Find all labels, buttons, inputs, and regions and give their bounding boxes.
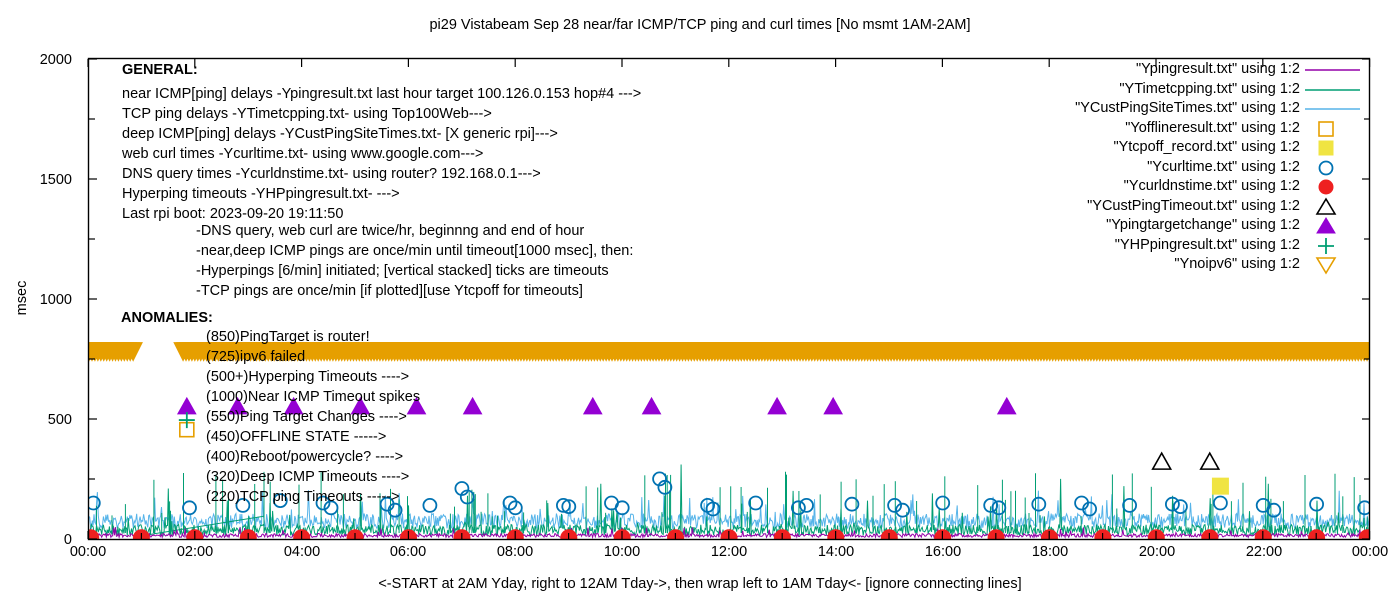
legend-label: "Ytcpoff_record.txt" using 1:2 — [1010, 138, 1300, 158]
x-tick-0200: 02:00 — [155, 545, 235, 559]
y-tick-1500: 1500 — [12, 173, 72, 187]
legend-key-circle-open-icon — [1300, 158, 1380, 178]
timing-note-line: -Hyperpings [6/min] initiated; [vertical… — [196, 261, 633, 281]
gnuplot-chart: pi29 Vistabeam Sep 28 near/far ICMP/TCP … — [0, 0, 1400, 600]
legend-key-triangle-open-icon — [1300, 197, 1380, 217]
timing-note-line: -near,deep ICMP pings are once/min until… — [196, 241, 633, 261]
legend-label: "Ycurldnstime.txt" using 1:2 — [1010, 177, 1300, 197]
legend-key-plus-icon — [1300, 236, 1380, 256]
anomaly-note-line: (320)Deep ICMP Timeouts ----> — [206, 467, 420, 487]
legend-key-line-icon — [1300, 80, 1380, 100]
anomaly-note-line: (500+)Hyperping Timeouts ----> — [206, 367, 420, 387]
x-tick-1200: 12:00 — [689, 545, 769, 559]
chart-title: pi29 Vistabeam Sep 28 near/far ICMP/TCP … — [0, 17, 1400, 33]
x-tick-0000b: 00:00 — [1330, 545, 1400, 559]
legend-key-triangle-filled-icon — [1300, 216, 1380, 236]
anomaly-note-line: (550)Ping Target Changes ----> — [206, 407, 420, 427]
legend-key-square-filled-icon — [1300, 138, 1380, 158]
series-misc-anomaly-markers — [179, 412, 195, 437]
x-tick-0800: 08:00 — [475, 545, 555, 559]
timing-notes: -DNS query, web curl are twice/hr, begin… — [196, 221, 633, 301]
legend-key-nabla-open-icon — [1300, 255, 1380, 275]
y-tick-1000: 1000 — [12, 293, 72, 307]
series-Ytcpoff_record — [1212, 478, 1228, 494]
legend: "Ypingresult.txt" using 1:2 "YTimetcppin… — [1010, 60, 1300, 275]
legend-key-circle-filled-icon — [1300, 177, 1380, 197]
x-tick-0400: 04:00 — [262, 545, 342, 559]
x-axis-label: <-START at 2AM Yday, right to 12AM Tday-… — [0, 576, 1400, 592]
x-tick-2000: 20:00 — [1117, 545, 1197, 559]
general-heading: GENERAL: — [122, 60, 198, 80]
x-tick-1800: 18:00 — [1010, 545, 1090, 559]
general-note-line: deep ICMP[ping] delays -YCustPingSiteTim… — [122, 124, 641, 144]
x-tick-2200: 22:00 — [1224, 545, 1304, 559]
y-tick-500: 500 — [12, 413, 72, 427]
legend-label: "Ynoipv6" using 1:2 — [1010, 255, 1300, 275]
x-tick-0000a: 00:00 — [48, 545, 128, 559]
legend-keys — [1300, 60, 1380, 275]
anomalies-heading: ANOMALIES: — [121, 308, 213, 328]
anomalies-notes: (850)PingTarget is router! (725)ipv6 fai… — [206, 327, 420, 507]
anomaly-note-line: (220)TCP ping Timeouts -----> — [206, 487, 420, 507]
series-YCustPingTimeout — [1153, 453, 1219, 469]
legend-label: "YHPpingresult.txt" using 1:2 — [1010, 236, 1300, 256]
legend-label: "Ycurltime.txt" using 1:2 — [1010, 158, 1300, 178]
general-note-line: near ICMP[ping] delays -Ypingresult.txt … — [122, 84, 641, 104]
x-tick-1600: 16:00 — [903, 545, 983, 559]
general-notes: near ICMP[ping] delays -Ypingresult.txt … — [122, 84, 641, 224]
legend-key-line-icon — [1300, 60, 1380, 80]
y-tick-2000: 2000 — [12, 53, 72, 67]
x-tick-1400: 14:00 — [796, 545, 876, 559]
timing-note-line: -DNS query, web curl are twice/hr, begin… — [196, 221, 633, 241]
anomaly-note-line: (725)ipv6 failed — [206, 347, 420, 367]
legend-key-line-icon — [1300, 99, 1380, 119]
anomaly-note-line: (400)Reboot/powercycle? ----> — [206, 447, 420, 467]
general-note-line: DNS query times -Ycurldnstime.txt- using… — [122, 164, 641, 184]
legend-label: "YTimetcpping.txt" using 1:2 — [1010, 80, 1300, 100]
legend-label: "YCustPingSiteTimes.txt" using 1:2 — [1010, 99, 1300, 119]
legend-label: "Yofflineresult.txt" using 1:2 — [1010, 119, 1300, 139]
series-Ypingresult — [88, 527, 1370, 537]
anomaly-note-line: (850)PingTarget is router! — [206, 327, 420, 347]
x-tick-0600: 06:00 — [368, 545, 448, 559]
general-note-line: TCP ping delays -YTimetcpping.txt- using… — [122, 104, 641, 124]
timing-note-line: -TCP pings are once/min [if plotted][use… — [196, 281, 633, 301]
x-tick-1000: 10:00 — [582, 545, 662, 559]
anomaly-note-line: (1000)Near ICMP Timeout spikes — [206, 387, 420, 407]
legend-label: "Ypingtargetchange" using 1:2 — [1010, 216, 1300, 236]
legend-label: "YCustPingTimeout.txt" using 1:2 — [1010, 197, 1300, 217]
anomaly-note-line: (450)OFFLINE STATE -----> — [206, 427, 420, 447]
general-note-line: web curl times -Ycurltime.txt- using www… — [122, 144, 641, 164]
legend-key-square-open-icon — [1300, 119, 1380, 139]
legend-label: "Ypingresult.txt" using 1:2 — [1010, 60, 1300, 80]
general-note-line: Hyperping timeouts -YHPpingresult.txt- -… — [122, 184, 641, 204]
